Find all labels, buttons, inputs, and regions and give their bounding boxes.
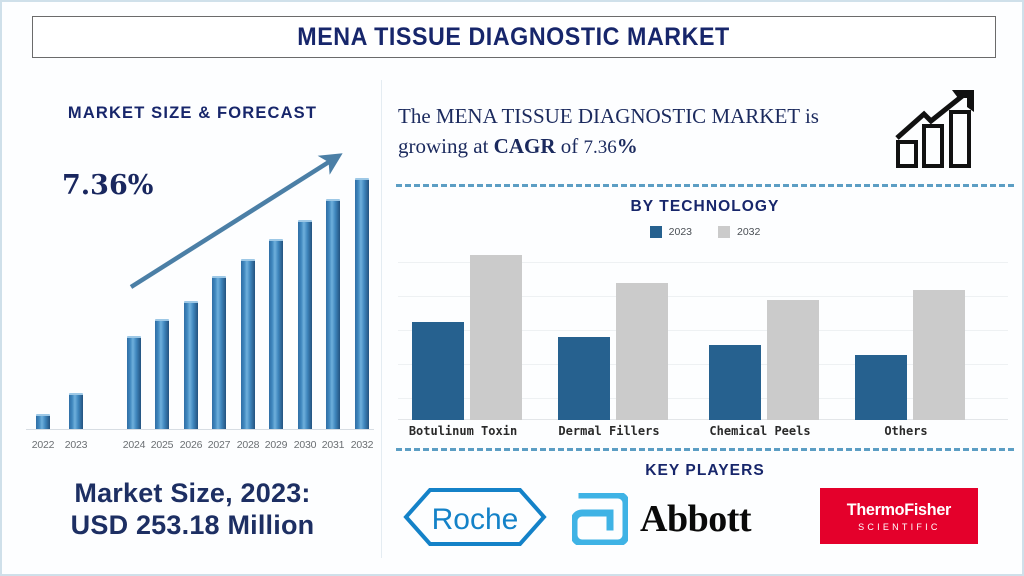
technology-xlabel-dermal-fillers: Dermal Fillers — [530, 424, 688, 438]
divider-top — [396, 184, 1014, 187]
forecast-bar-chart: 7.36% 2022202320242025202620272028202920… — [14, 140, 374, 430]
technology-bar-others-2023 — [855, 355, 907, 420]
legend-label-2032: 2032 — [737, 226, 760, 238]
technology-group-chemical-peels — [709, 248, 819, 420]
technology-xlabel-botulinum-toxin: Botulinum Toxin — [384, 424, 542, 438]
tagline-part-2: of — [556, 134, 584, 158]
forecast-chart-baseline — [26, 429, 374, 430]
forecast-xlabel-2027: 2027 — [203, 439, 235, 451]
technology-bar-chemical-peels-2023 — [709, 345, 761, 420]
forecast-bar-2028: 2028 — [241, 259, 255, 429]
market-size-line-2: USD 253.18 Million — [4, 510, 381, 542]
technology-xlabel-chemical-peels: Chemical Peels — [681, 424, 839, 438]
thermo-fisher-wordmark: ThermoFisher — [847, 500, 951, 520]
page-title: MENA TISSUE DIAGNOSTIC MARKET — [298, 23, 731, 52]
legend-label-2023: 2023 — [669, 226, 692, 238]
market-size-callout: Market Size, 2023: USD 253.18 Million — [4, 478, 381, 542]
technology-bar-chart — [398, 248, 1008, 420]
technology-xlabel-others: Others — [827, 424, 985, 438]
infographic-root: MENA TISSUE DIAGNOSTIC MARKET MARKET SIZ… — [0, 0, 1024, 576]
thermo-fisher-logo[interactable]: ThermoFisher SCIENTIFIC — [820, 488, 978, 544]
divider-bottom — [396, 448, 1014, 451]
by-technology-heading: BY TECHNOLOGY — [403, 198, 1006, 216]
forecast-bar-2029: 2029 — [269, 239, 283, 429]
forecast-xlabel-2031: 2031 — [317, 439, 349, 451]
tagline-percent-sign: % — [617, 134, 638, 158]
forecast-xlabel-2022: 2022 — [27, 439, 59, 451]
legend-item-2023[interactable]: 2023 — [650, 226, 692, 238]
technology-bar-others-2032 — [913, 290, 965, 420]
cagr-tagline: The MENA TISSUE DIAGNOSTIC MARKET is gro… — [398, 102, 888, 162]
technology-bar-botulinum-toxin-2023 — [412, 322, 464, 420]
right-panel: The MENA TISSUE DIAGNOSTIC MARKET is gro… — [394, 80, 1016, 576]
growth-chart-icon — [894, 86, 990, 170]
tagline-emphasis: CAGR — [494, 134, 556, 158]
thermo-fisher-subtitle: SCIENTIFIC — [858, 522, 940, 533]
technology-chart-legend: 20232032 — [394, 226, 1016, 238]
key-players-heading: KEY PLAYERS — [403, 462, 1006, 480]
forecast-bar-2026: 2026 — [184, 301, 198, 429]
roche-hexagon-icon: Roche — [402, 486, 548, 548]
forecast-bar-2024: 2024 — [127, 336, 141, 429]
legend-swatch-2032 — [718, 226, 730, 238]
forecast-xlabel-2025: 2025 — [146, 439, 178, 451]
technology-group-botulinum-toxin — [412, 248, 522, 420]
forecast-bar-2023: 2023 — [69, 393, 83, 429]
forecast-xlabel-2023: 2023 — [60, 439, 92, 451]
forecast-xlabel-2029: 2029 — [260, 439, 292, 451]
technology-bar-dermal-fillers-2032 — [616, 283, 668, 420]
technology-bar-chemical-peels-2032 — [767, 300, 819, 420]
forecast-cagr-label: 7.36% — [62, 170, 153, 201]
roche-logo[interactable]: Roche — [402, 486, 548, 548]
technology-group-dermal-fillers — [558, 248, 668, 420]
legend-item-2032[interactable]: 2032 — [718, 226, 760, 238]
forecast-bar-2031: 2031 — [326, 199, 340, 429]
forecast-bar-2030: 2030 — [298, 220, 312, 429]
left-panel: MARKET SIZE & FORECAST 7.36% 20222023202… — [4, 80, 381, 576]
technology-bar-dermal-fillers-2023 — [558, 337, 610, 420]
forecast-bar-2025: 2025 — [155, 319, 169, 429]
abbott-symbol-icon — [572, 493, 628, 545]
market-size-forecast-heading: MARKET SIZE & FORECAST — [10, 103, 376, 123]
forecast-bar-2032: 2032 — [355, 178, 369, 429]
legend-swatch-2023 — [650, 226, 662, 238]
technology-bar-botulinum-toxin-2032 — [470, 255, 522, 420]
panel-divider — [381, 80, 382, 558]
abbott-wordmark: Abbott — [640, 497, 751, 541]
key-players-logos: Roche Abbott ThermoFisher SCIENTIFIC — [394, 482, 1016, 568]
tagline-cagr-value: 7.36 — [584, 137, 617, 158]
forecast-bar-2022: 2022 — [36, 414, 50, 429]
technology-group-others — [855, 248, 965, 420]
roche-wordmark: Roche — [432, 503, 519, 536]
forecast-bar-2027: 2027 — [212, 276, 226, 429]
forecast-xlabel-2032: 2032 — [346, 439, 378, 451]
title-banner: MENA TISSUE DIAGNOSTIC MARKET — [32, 16, 996, 58]
market-size-line-1: Market Size, 2023: — [4, 478, 381, 510]
abbott-logo[interactable]: Abbott — [572, 490, 792, 548]
